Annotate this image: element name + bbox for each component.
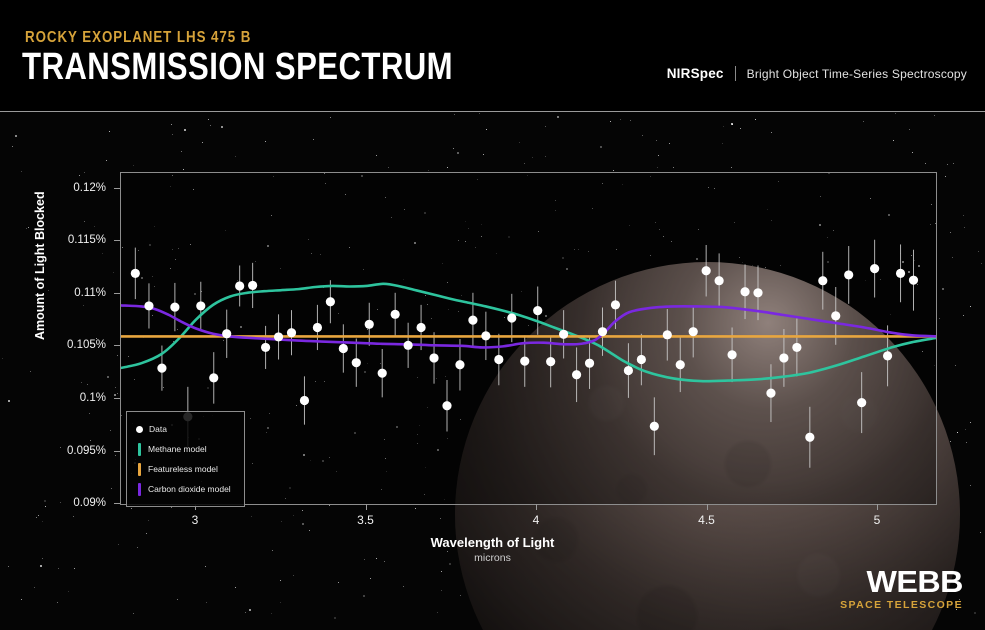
webb-tagline: SPACE TELESCOPE [840, 600, 963, 611]
y-tick-label: 0.105% [36, 339, 106, 351]
x-tick-label: 5 [847, 513, 907, 527]
y-tick-mark [114, 293, 120, 294]
legend-label: Methane model [148, 444, 207, 454]
legend-marker-line [138, 463, 141, 476]
y-axis-title: Amount of Light Blocked [33, 191, 47, 340]
y-tick-mark [114, 503, 120, 504]
carbon-dioxide-model-line [121, 305, 936, 347]
legend-item[interactable]: Data [135, 419, 236, 439]
x-tick-mark [366, 504, 367, 510]
webb-logo: WEBB SPACE TELESCOPE [840, 566, 963, 611]
credit-divider [735, 66, 736, 81]
y-tick-mark [114, 398, 120, 399]
legend-item[interactable]: Carbon dioxide model [135, 479, 236, 499]
legend-label: Featureless model [148, 464, 218, 474]
legend-label: Data [149, 424, 167, 434]
data-errorbars [135, 240, 913, 468]
y-tick-label: 0.09% [36, 497, 106, 509]
observing-mode-label: Bright Object Time-Series Spectroscopy [747, 67, 967, 81]
instrument-credit: NIRSpec Bright Object Time-Series Spectr… [667, 66, 967, 81]
subject-eyebrow: Rocky Exoplanet LHS 475 b [25, 29, 251, 47]
webb-wordmark: WEBB [835, 566, 963, 597]
x-tick-label: 4 [506, 513, 566, 527]
x-axis-title: Wavelength of Light [0, 535, 985, 550]
x-axis-units: microns [0, 552, 985, 564]
y-tick-mark [114, 188, 120, 189]
x-tick-label: 4.5 [677, 513, 737, 527]
legend-marker-dot [136, 426, 143, 433]
y-tick-label: 0.1% [36, 392, 106, 404]
x-tick-mark [707, 504, 708, 510]
x-tick-label: 3 [165, 513, 225, 527]
y-tick-mark [114, 240, 120, 241]
x-tick-mark [536, 504, 537, 510]
y-tick-mark [114, 451, 120, 452]
y-tick-label: 0.095% [36, 445, 106, 457]
y-tick-mark [114, 345, 120, 346]
header-divider-line [0, 111, 985, 112]
x-tick-mark [877, 504, 878, 510]
legend-marker-line [138, 483, 141, 496]
legend-item[interactable]: Methane model [135, 439, 236, 459]
header-bar: Rocky Exoplanet LHS 475 b Transmission S… [0, 0, 985, 112]
x-tick-label: 3.5 [336, 513, 396, 527]
legend-item[interactable]: Featureless model [135, 459, 236, 479]
instrument-name: NIRSpec [667, 66, 724, 81]
page-title: Transmission Spectrum [22, 48, 453, 86]
methane-model-line [121, 284, 936, 381]
legend-marker-line [138, 443, 141, 456]
legend-label: Carbon dioxide model [148, 484, 231, 494]
chart-legend: DataMethane modelFeatureless modelCarbon… [126, 411, 245, 507]
